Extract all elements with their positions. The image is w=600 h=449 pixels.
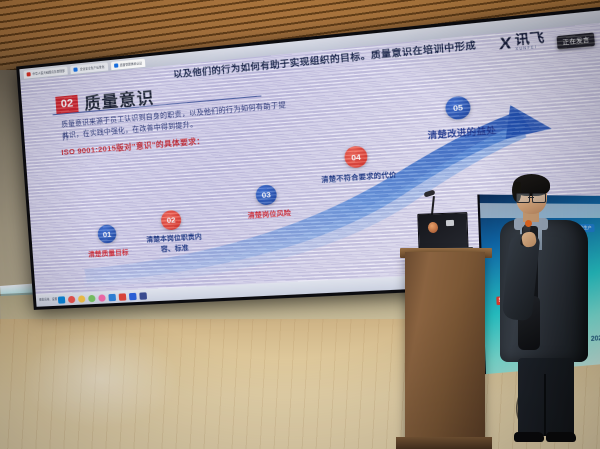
chrome-icon[interactable] xyxy=(78,295,86,302)
speaker-shoe-left xyxy=(514,432,544,442)
laptop-sticker xyxy=(446,220,454,226)
tab-favicon xyxy=(74,67,78,71)
taskbar-search-label[interactable]: 搜索应用、设置 xyxy=(39,296,57,301)
speaker-person xyxy=(492,178,600,449)
speaker-shoe-right xyxy=(546,432,576,442)
iflytek-x-icon: X xyxy=(499,34,512,52)
speaker-leg-split xyxy=(544,374,546,436)
browser-tab-label: 企业安全生产标准化 xyxy=(80,64,105,71)
glasses-icon xyxy=(516,193,546,201)
mail-icon[interactable] xyxy=(108,293,116,300)
browser-tab-label: 中华人民共和国应急管理部 xyxy=(32,68,64,75)
browser-icon[interactable] xyxy=(68,295,76,302)
slide-section-badge: 02 xyxy=(55,94,79,113)
windows-start-icon[interactable] xyxy=(58,296,66,303)
terminal-icon[interactable] xyxy=(139,292,147,300)
iflytek-brand-overlay: X 讯飞 XUNFEI xyxy=(499,31,546,53)
tab-favicon xyxy=(114,63,118,67)
speaker-trousers xyxy=(518,358,574,436)
media-icon[interactable] xyxy=(98,294,106,301)
folder-icon[interactable] xyxy=(88,294,96,301)
floor-light-reflection xyxy=(20,329,180,429)
word-icon[interactable] xyxy=(119,293,127,300)
browser-tab-label: 质量管理体系认证 xyxy=(120,60,143,66)
office-icon[interactable] xyxy=(129,292,137,300)
step-label-02: 清楚本岗位职责内容、标准 xyxy=(141,232,208,256)
speaking-status-tooltip: 正在发言 xyxy=(557,33,595,50)
tab-favicon xyxy=(26,72,30,76)
photo-scene: 中华人民共和国应急管理部 企业安全生产标准化 质量管理体系认证 — □ × + … xyxy=(0,0,600,449)
